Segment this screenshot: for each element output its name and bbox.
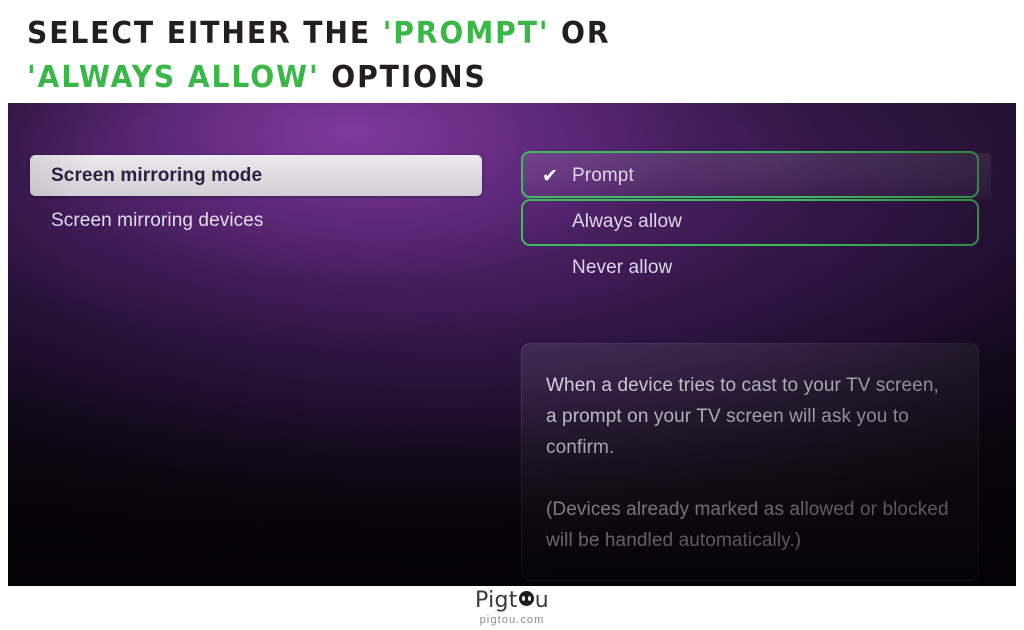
headline: SELECT EITHER THE 'PROMPT' OR 'ALWAYS AL… [27, 12, 987, 100]
settings-nav-list: Screen mirroring mode Screen mirroring d… [30, 155, 482, 241]
page-root: SELECT EITHER THE 'PROMPT' OR 'ALWAYS AL… [0, 0, 1024, 630]
description-paragraph-1: When a device tries to cast to your TV s… [546, 370, 954, 463]
nav-item-screen-mirroring-mode[interactable]: Screen mirroring mode [30, 155, 482, 196]
checkmark-icon: ✔ [542, 167, 572, 186]
headline-line-1: SELECT EITHER THE 'PROMPT' OR [27, 12, 929, 56]
nav-item-label: Screen mirroring devices [51, 210, 264, 232]
option-label: Always allow [572, 211, 682, 233]
mirroring-mode-option-list: ✔ Prompt Always allow Never allow [521, 153, 991, 291]
option-prompt[interactable]: ✔ Prompt [521, 153, 991, 199]
logo-domain: pigtou.com [480, 614, 545, 626]
option-description-panel: When a device tries to cast to your TV s… [521, 343, 979, 581]
headline-highlight-always-allow: 'ALWAYS ALLOW' [27, 60, 320, 95]
nav-item-screen-mirroring-devices[interactable]: Screen mirroring devices [30, 200, 482, 241]
option-always-allow[interactable]: Always allow [521, 199, 991, 245]
option-never-allow[interactable]: Never allow [521, 245, 991, 291]
headline-highlight-prompt: 'PROMPT' [383, 16, 550, 51]
headline-text-segment: OPTIONS [320, 60, 487, 95]
pigtou-logo: Pigtu [475, 590, 549, 612]
site-footer: Pigtu pigtou.com [0, 590, 1024, 626]
headline-text-segment: SELECT EITHER THE [27, 16, 383, 51]
pig-snout-icon [519, 591, 534, 606]
headline-line-2: 'ALWAYS ALLOW' OPTIONS [27, 56, 929, 100]
description-paragraph-2: (Devices already marked as allowed or bl… [546, 494, 954, 556]
headline-text-segment: OR [549, 16, 610, 51]
option-label: Never allow [572, 257, 672, 279]
nav-item-label: Screen mirroring mode [51, 165, 262, 187]
tv-settings-screenshot: Screen mirroring mode Screen mirroring d… [8, 103, 1016, 586]
logo-text-pre: Pigt [475, 590, 518, 612]
option-label: Prompt [572, 165, 634, 187]
logo-text-post: u [535, 590, 549, 612]
